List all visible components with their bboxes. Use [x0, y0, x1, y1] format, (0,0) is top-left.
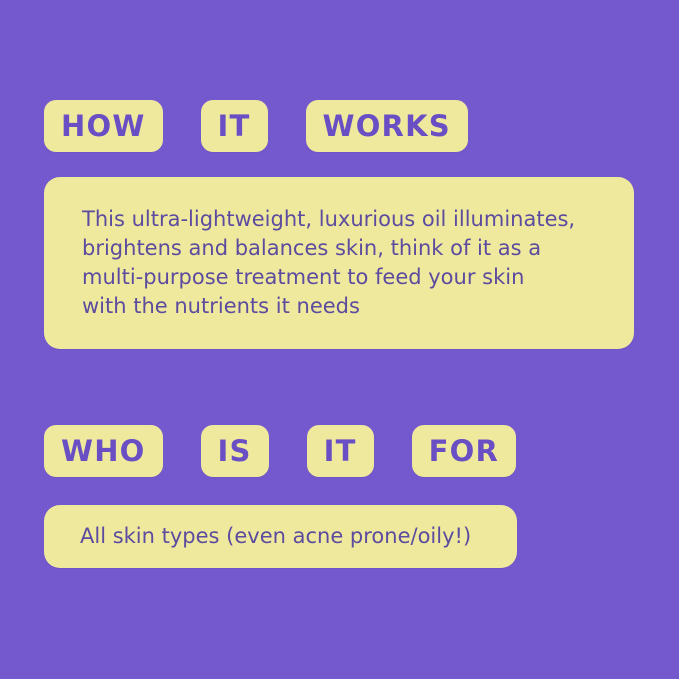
- heading-pill-it: IT: [201, 100, 268, 152]
- heading-row-how-it-works: HOW IT WORKS: [44, 100, 468, 152]
- heading-pill-for: FOR: [412, 425, 516, 477]
- infographic-canvas: HOW IT WORKS This ultra-lightweight, lux…: [0, 0, 679, 679]
- heading-pill-works: WORKS: [306, 100, 468, 152]
- heading-pill-who: WHO: [44, 425, 163, 477]
- heading-pill-is: IS: [201, 425, 269, 477]
- heading-row-who-is-it-for: WHO IS IT FOR: [44, 425, 516, 477]
- heading-pill-it-2: IT: [307, 425, 374, 477]
- card-text-who-is-it-for: All skin types (even acne prone/oily!): [80, 522, 497, 551]
- card-who-is-it-for: All skin types (even acne prone/oily!): [44, 505, 517, 568]
- card-text-how-it-works: This ultra-lightweight, luxurious oil il…: [82, 205, 604, 321]
- card-how-it-works: This ultra-lightweight, luxurious oil il…: [44, 177, 634, 349]
- heading-pill-how: HOW: [44, 100, 163, 152]
